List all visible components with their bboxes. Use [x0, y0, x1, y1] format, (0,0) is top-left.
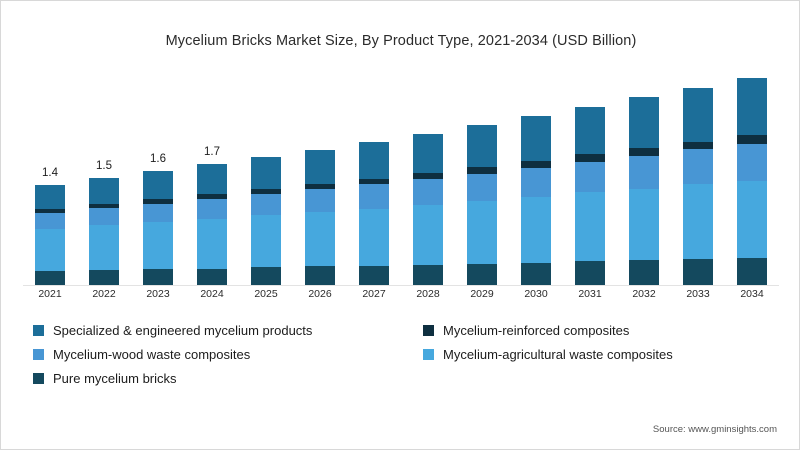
bar-segment[interactable] — [143, 222, 173, 269]
bar-segment[interactable] — [251, 157, 281, 189]
bar-segment[interactable] — [143, 204, 173, 223]
bar-segment[interactable] — [359, 266, 389, 285]
bar-segment[interactable] — [89, 208, 119, 225]
bar-segment[interactable] — [521, 263, 551, 285]
legend-row: Pure mycelium bricks — [33, 371, 773, 386]
bar-segment[interactable] — [89, 178, 119, 204]
x-axis-labels: 2021202220232024202520262027202820292030… — [23, 288, 779, 304]
bar-column[interactable] — [305, 149, 335, 285]
bar-segment[interactable] — [629, 156, 659, 189]
bar-segment[interactable] — [143, 269, 173, 285]
legend-label: Mycelium-wood waste composites — [53, 347, 250, 362]
bar-segment[interactable] — [683, 88, 713, 142]
bar-segment[interactable] — [359, 209, 389, 266]
x-axis-tick-label: 2032 — [632, 288, 655, 300]
x-axis-tick-label: 2027 — [362, 288, 385, 300]
bar-segment[interactable] — [251, 267, 281, 285]
bar-segment[interactable] — [467, 125, 497, 167]
bar-segment[interactable] — [197, 269, 227, 285]
bar-segment[interactable] — [251, 215, 281, 267]
bar-segment[interactable] — [89, 270, 119, 285]
legend-item[interactable]: Mycelium-agricultural waste composites — [423, 347, 773, 362]
bar-segment[interactable] — [575, 192, 605, 260]
bar-column[interactable] — [143, 171, 173, 285]
bar-segment[interactable] — [197, 164, 227, 194]
bar-segment[interactable] — [197, 199, 227, 219]
x-axis-tick-label: 2022 — [92, 288, 115, 300]
bar-segment[interactable] — [683, 184, 713, 258]
bar-column[interactable] — [413, 134, 443, 285]
bar-segment[interactable] — [197, 219, 227, 269]
bar-column[interactable] — [521, 116, 551, 285]
chart-legend: Specialized & engineered mycelium produc… — [33, 323, 773, 395]
x-axis-tick-label: 2025 — [254, 288, 277, 300]
chart-container: Mycelium Bricks Market Size, By Product … — [0, 0, 800, 450]
legend-label: Mycelium-agricultural waste composites — [443, 347, 673, 362]
bar-segment[interactable] — [683, 142, 713, 150]
legend-swatch-icon — [423, 349, 434, 360]
bar-value-label: 1.4 — [42, 167, 58, 179]
legend-swatch-icon — [33, 373, 44, 384]
bar-segment[interactable] — [575, 107, 605, 155]
bar-segment[interactable] — [305, 266, 335, 285]
x-axis-tick-label: 2023 — [146, 288, 169, 300]
legend-label: Mycelium-reinforced composites — [443, 323, 629, 338]
bar-segment[interactable] — [359, 142, 389, 178]
bar-column[interactable] — [359, 142, 389, 285]
bar-column[interactable] — [89, 178, 119, 285]
plot-area: 1.41.51.61.7 — [23, 71, 779, 285]
bar-segment[interactable] — [413, 265, 443, 285]
bar-segment[interactable] — [413, 134, 443, 173]
x-axis-baseline — [23, 285, 779, 286]
bar-value-label: 1.5 — [96, 160, 112, 172]
bar-segment[interactable] — [521, 197, 551, 263]
bar-segment[interactable] — [629, 189, 659, 260]
legend-row: Mycelium-wood waste compositesMycelium-a… — [33, 347, 773, 362]
legend-item[interactable]: Specialized & engineered mycelium produc… — [33, 323, 423, 338]
legend-row: Specialized & engineered mycelium produc… — [33, 323, 773, 338]
bar-column[interactable] — [737, 78, 767, 285]
bar-value-label: 1.7 — [204, 146, 220, 158]
bar-segment[interactable] — [629, 97, 659, 148]
bar-segment[interactable] — [35, 229, 65, 272]
source-note: Source: www.gminsights.com — [653, 424, 777, 435]
bar-column[interactable] — [251, 157, 281, 285]
x-axis-tick-label: 2024 — [200, 288, 223, 300]
legend-item[interactable]: Mycelium-reinforced composites — [423, 323, 773, 338]
bar-segment[interactable] — [629, 148, 659, 156]
bar-segment[interactable] — [575, 154, 605, 161]
legend-swatch-icon — [33, 325, 44, 336]
bar-segment[interactable] — [629, 260, 659, 285]
legend-swatch-icon — [33, 349, 44, 360]
legend-label: Pure mycelium bricks — [53, 371, 177, 386]
chart-title: Mycelium Bricks Market Size, By Product … — [1, 33, 800, 49]
x-axis-tick-label: 2029 — [470, 288, 493, 300]
x-axis-tick-label: 2030 — [524, 288, 547, 300]
bar-segment[interactable] — [35, 185, 65, 209]
bar-segment[interactable] — [683, 149, 713, 184]
bar-segment[interactable] — [683, 259, 713, 285]
bar-segment[interactable] — [89, 225, 119, 270]
bar-segment[interactable] — [305, 212, 335, 266]
bar-segment[interactable] — [305, 150, 335, 184]
bar-segment[interactable] — [35, 271, 65, 285]
bar-segment[interactable] — [251, 194, 281, 215]
bar-segment[interactable] — [737, 135, 767, 144]
bar-segment[interactable] — [737, 78, 767, 135]
x-axis-tick-label: 2034 — [740, 288, 763, 300]
legend-item[interactable]: Mycelium-wood waste composites — [33, 347, 423, 362]
bar-segment[interactable] — [737, 181, 767, 258]
bar-column[interactable] — [629, 97, 659, 285]
legend-label: Specialized & engineered mycelium produc… — [53, 323, 312, 338]
bar-column[interactable] — [683, 88, 713, 285]
bar-segment[interactable] — [413, 179, 443, 205]
bar-value-label: 1.6 — [150, 153, 166, 165]
bar-segment[interactable] — [521, 116, 551, 161]
bar-segment[interactable] — [467, 201, 497, 264]
bar-segment[interactable] — [521, 161, 551, 168]
x-axis-tick-label: 2031 — [578, 288, 601, 300]
bar-segment[interactable] — [143, 171, 173, 199]
bar-segment[interactable] — [467, 174, 497, 201]
bar-column[interactable] — [197, 164, 227, 285]
x-axis-tick-label: 2021 — [38, 288, 61, 300]
bar-segment[interactable] — [737, 144, 767, 181]
bar-segment[interactable] — [35, 213, 65, 229]
bar-segment[interactable] — [305, 189, 335, 212]
x-axis-tick-label: 2033 — [686, 288, 709, 300]
bar-segment[interactable] — [737, 258, 767, 285]
bar-segment[interactable] — [575, 261, 605, 285]
bar-segment[interactable] — [575, 162, 605, 193]
bar-segment[interactable] — [521, 168, 551, 197]
bar-segment[interactable] — [467, 264, 497, 285]
bar-segment[interactable] — [359, 184, 389, 208]
x-axis-tick-label: 2026 — [308, 288, 331, 300]
legend-swatch-icon — [423, 325, 434, 336]
bar-column[interactable] — [575, 107, 605, 285]
legend-item[interactable]: Pure mycelium bricks — [33, 371, 423, 386]
bar-segment[interactable] — [413, 205, 443, 265]
x-axis-tick-label: 2028 — [416, 288, 439, 300]
bar-column[interactable] — [35, 185, 65, 285]
bar-column[interactable] — [467, 125, 497, 285]
